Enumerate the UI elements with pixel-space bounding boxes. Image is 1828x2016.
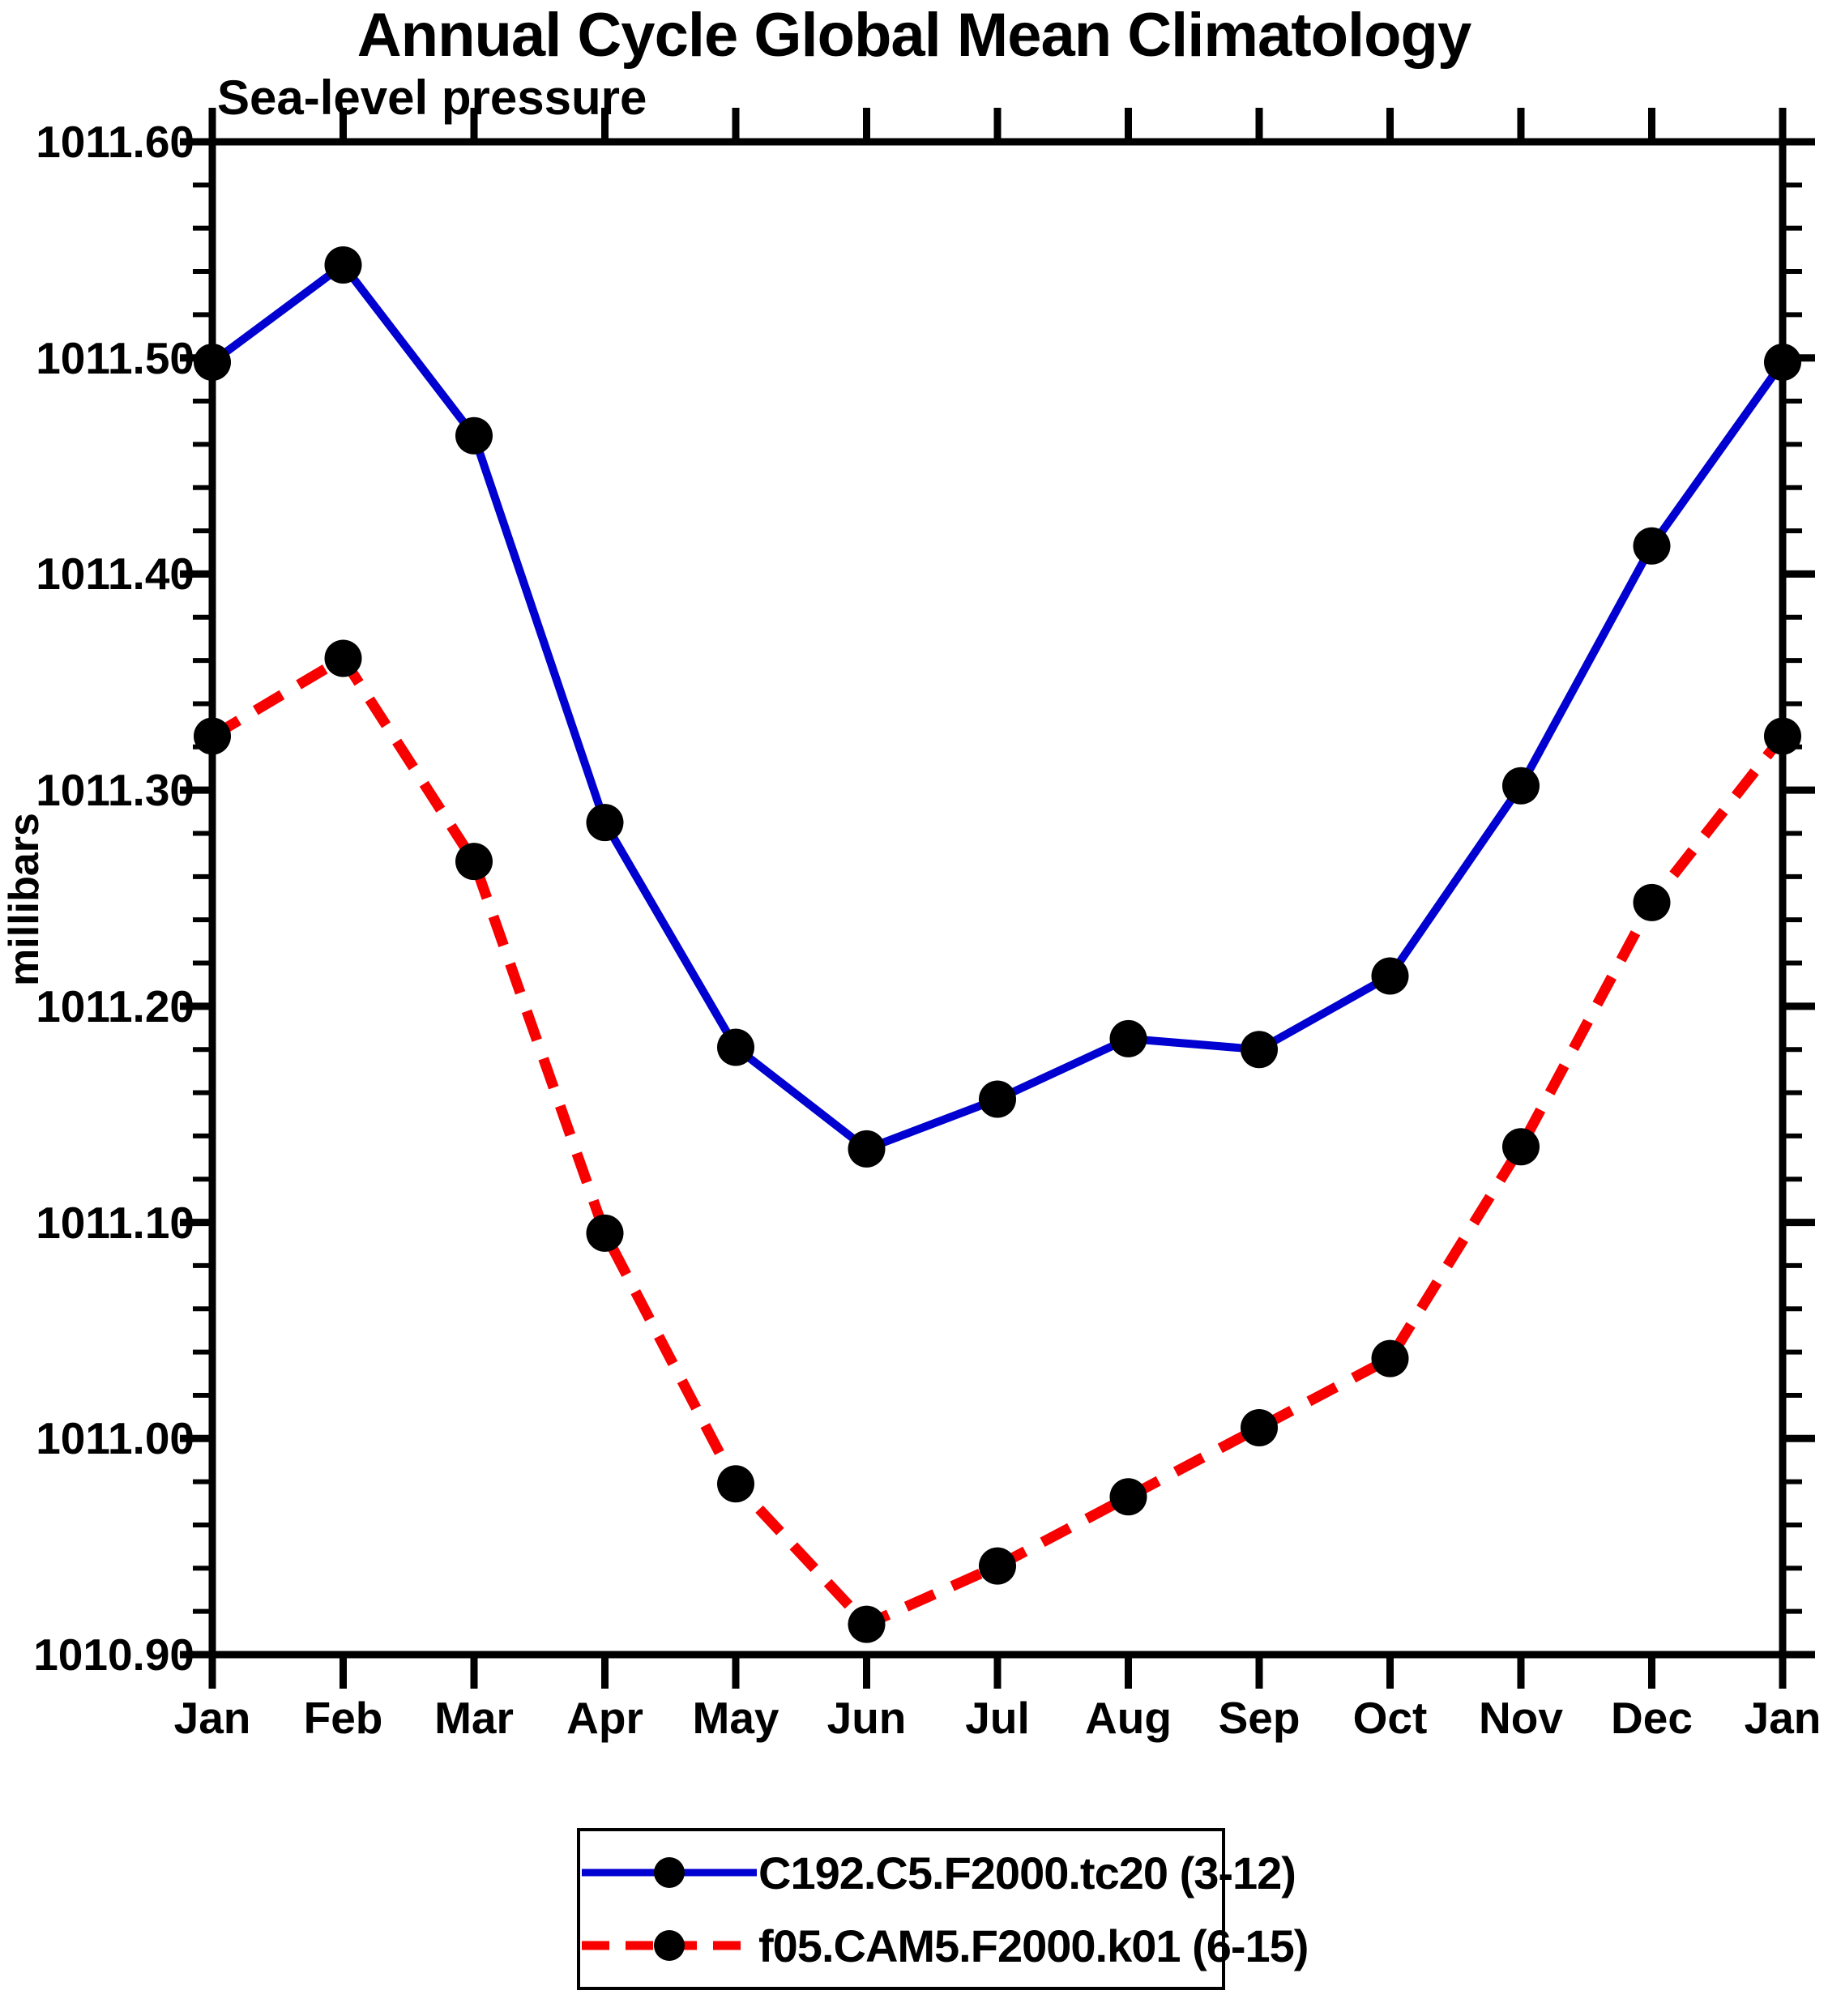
data-point <box>1502 767 1540 805</box>
data-point <box>1372 958 1409 995</box>
x-tick-label: Jan <box>174 1692 251 1744</box>
axis-frame <box>212 142 1783 1655</box>
data-point <box>979 1081 1016 1118</box>
series-line-1 <box>212 265 1783 1149</box>
legend-entry-1[interactable]: f05.CAM5.F2000.k01 (6-15) <box>580 1909 1222 1982</box>
x-tick-label: Apr <box>566 1692 643 1744</box>
data-point <box>1634 884 1671 921</box>
data-point <box>325 246 362 284</box>
x-tick-label: Aug <box>1085 1692 1172 1744</box>
x-tick-label: Jun <box>827 1692 907 1744</box>
data-point <box>848 1606 886 1643</box>
data-point <box>455 843 493 880</box>
data-point <box>1502 1128 1540 1165</box>
x-axis-ticks <box>212 108 1783 1689</box>
y-tick-label: 1011.60 <box>36 116 194 168</box>
series-line-2 <box>212 658 1783 1624</box>
data-point <box>1110 1020 1147 1057</box>
data-point <box>1764 344 1801 381</box>
data-point <box>979 1548 1016 1585</box>
chart-page: Annual Cycle Global Mean Climatology Sea… <box>0 0 1828 2016</box>
data-point <box>587 804 624 841</box>
x-tick-label: May <box>693 1692 779 1744</box>
data-point <box>848 1130 886 1168</box>
x-tick-label: Oct <box>1353 1692 1428 1744</box>
legend-entry-0[interactable]: C192.C5.F2000.tc20 (3-12) <box>580 1836 1222 1909</box>
y-tick-label: 1011.40 <box>36 548 194 600</box>
data-point <box>1764 717 1801 754</box>
data-point <box>455 417 493 455</box>
data-point <box>194 717 231 754</box>
x-tick-label: Jul <box>965 1692 1029 1744</box>
x-tick-label: Sep <box>1219 1692 1301 1744</box>
legend-swatch-line-0 <box>580 1848 758 1897</box>
data-point <box>717 1465 754 1502</box>
y-tick-label: 1011.00 <box>36 1412 194 1464</box>
legend: C192.C5.F2000.tc20 (3-12) f05.CAM5.F2000… <box>577 1828 1225 1990</box>
legend-label-0: C192.C5.F2000.tc20 (3-12) <box>758 1847 1296 1899</box>
data-point <box>1110 1478 1147 1515</box>
y-tick-label: 1010.90 <box>33 1629 194 1681</box>
x-tick-label: Dec <box>1611 1692 1693 1744</box>
y-tick-label: 1011.10 <box>36 1197 194 1249</box>
legend-label-1: f05.CAM5.F2000.k01 (6-15) <box>758 1920 1308 1972</box>
data-point <box>194 344 231 381</box>
x-tick-label: Mar <box>434 1692 514 1744</box>
data-point <box>717 1029 754 1066</box>
data-point <box>1241 1031 1278 1068</box>
data-point <box>1372 1340 1409 1377</box>
x-tick-label: Nov <box>1479 1692 1563 1744</box>
data-point <box>1634 527 1671 565</box>
data-point <box>1241 1409 1278 1446</box>
y-tick-label: 1011.50 <box>36 332 194 384</box>
x-tick-label: Jan <box>1745 1692 1822 1744</box>
data-point <box>325 639 362 677</box>
y-tick-label: 1011.20 <box>36 980 194 1032</box>
legend-swatch-line-1 <box>580 1921 758 1970</box>
x-tick-label: Feb <box>304 1692 383 1744</box>
y-tick-label: 1011.30 <box>36 764 194 816</box>
data-point <box>587 1215 624 1252</box>
